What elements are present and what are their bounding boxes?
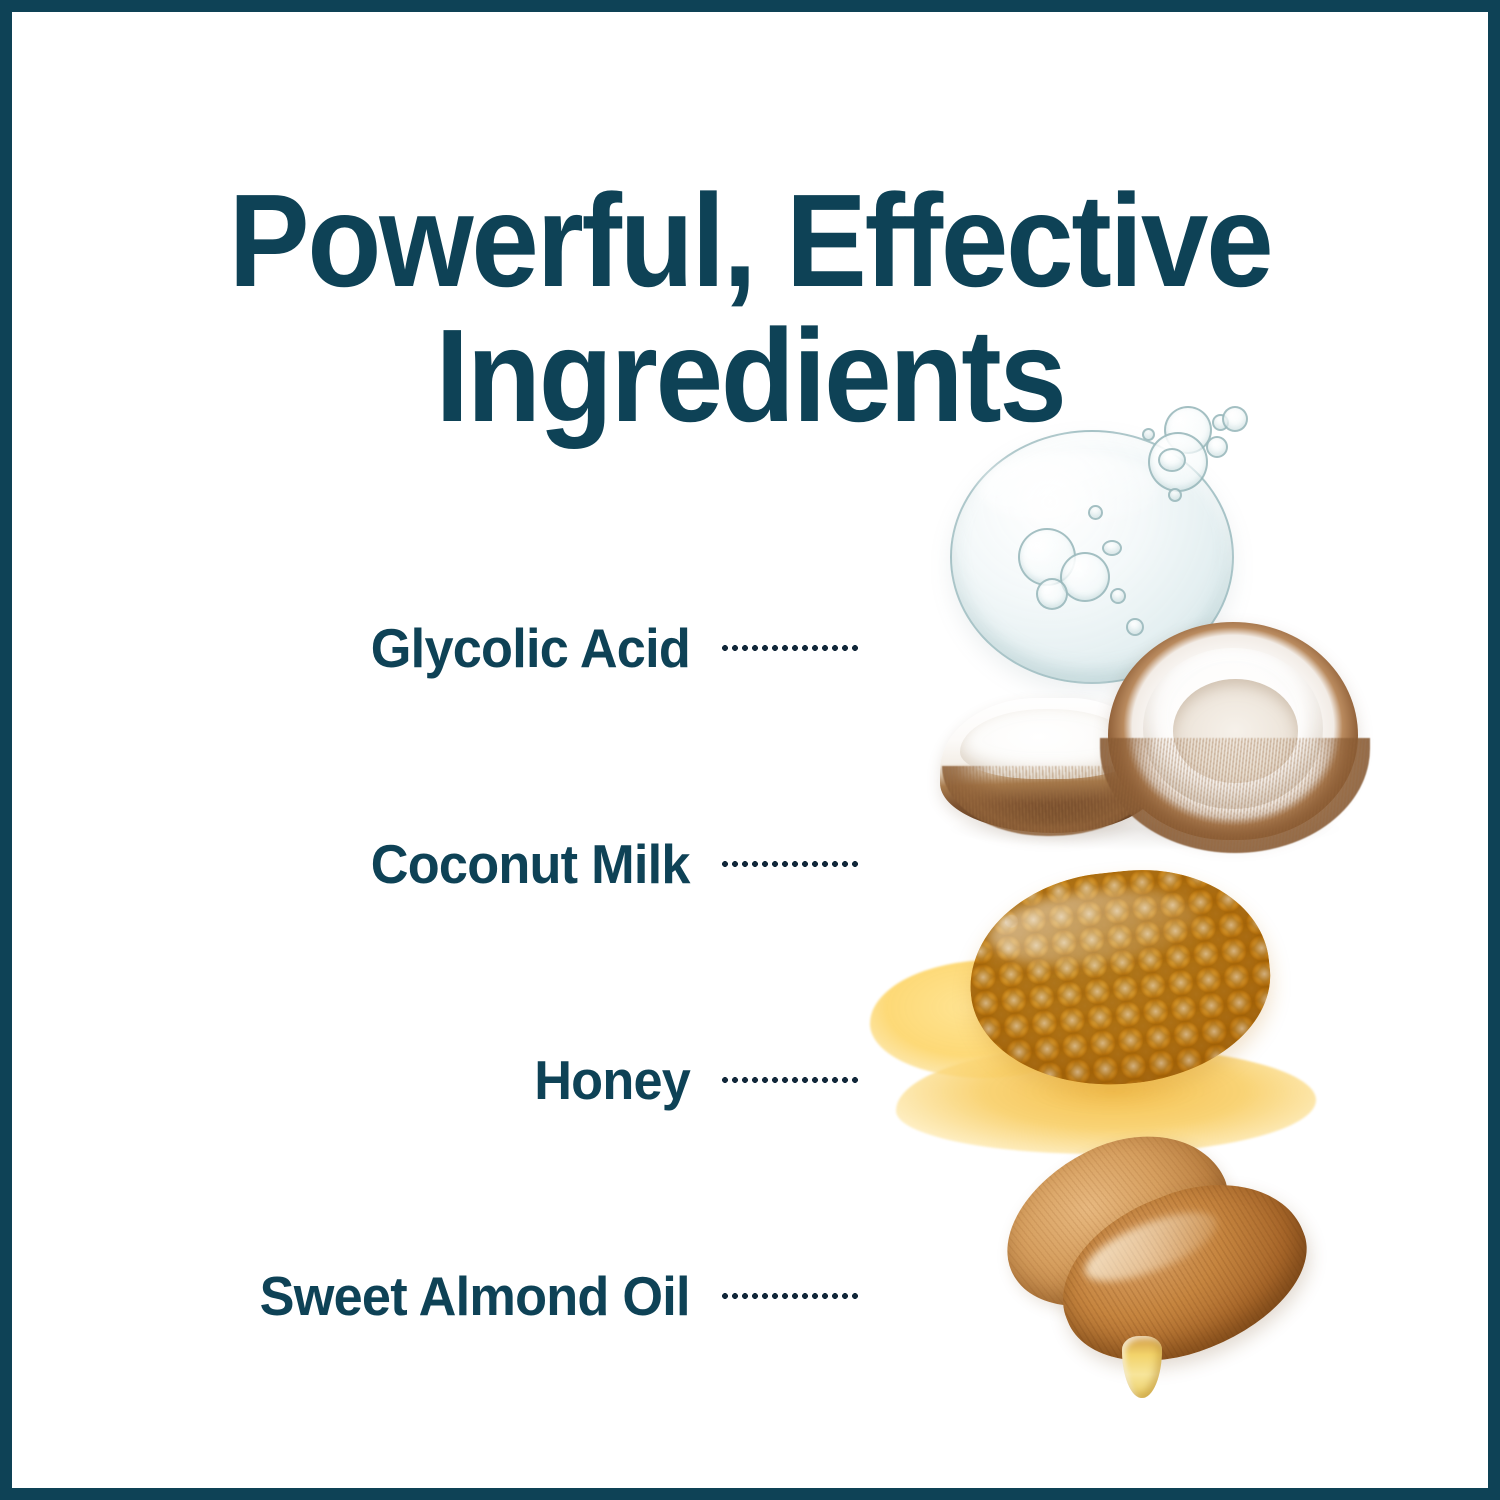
ingredient-label: Coconut Milk	[371, 832, 690, 896]
coconut-half	[1108, 622, 1358, 840]
honeycomb	[960, 857, 1281, 1099]
ingredient-row-coconut-milk: Coconut Milk	[0, 756, 900, 972]
dotted-leader-icon	[720, 645, 860, 651]
ingredient-label: Sweet Almond Oil	[260, 1264, 690, 1328]
ingredient-row-honey: Honey	[0, 972, 900, 1188]
bubble-icon	[1102, 540, 1122, 556]
ingredients-infographic: Powerful, Effective Ingredients Glycolic…	[0, 0, 1500, 1500]
ingredient-row-glycolic-acid: Glycolic Acid	[0, 540, 900, 756]
dotted-leader-icon	[720, 1293, 860, 1299]
oil-drip	[1122, 1336, 1162, 1398]
ingredient-label: Honey	[534, 1048, 690, 1112]
ingredient-row-sweet-almond-oil: Sweet Almond Oil	[0, 1188, 900, 1404]
ingredient-imagery	[880, 380, 1440, 1410]
bubble-icon	[1088, 505, 1103, 520]
sweet-almond-oil-image	[990, 1140, 1330, 1420]
floating-bubble-icon	[1222, 406, 1248, 432]
floating-bubble-icon	[1158, 448, 1186, 472]
bubble-icon	[1110, 588, 1126, 604]
dotted-leader-icon	[720, 1077, 860, 1083]
floating-bubble-icon	[1168, 488, 1182, 502]
coconut-milk-image	[940, 618, 1360, 878]
floating-bubble-icon	[1142, 428, 1155, 441]
bubble-icon	[1036, 578, 1068, 610]
honey-image	[850, 850, 1380, 1180]
ingredient-label: Glycolic Acid	[371, 616, 690, 680]
ingredient-list: Glycolic Acid Coconut Milk Honey Sweet A…	[0, 540, 900, 1404]
floating-bubble-icon	[1206, 436, 1228, 458]
dotted-leader-icon	[720, 861, 860, 867]
